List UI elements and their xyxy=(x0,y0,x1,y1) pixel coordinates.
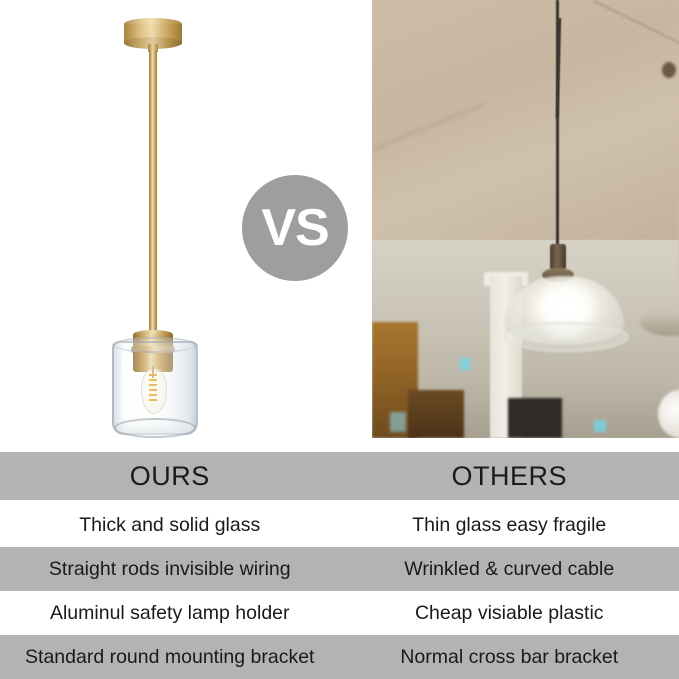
glass-shade-bottom-rim xyxy=(114,418,196,438)
cell-ours-2: Straight rods invisible wiring xyxy=(0,558,340,581)
vs-badge: VS xyxy=(242,175,348,281)
cell-others-3: Cheap visiable plastic xyxy=(340,602,679,625)
table-row: Thick and solid glass Thin glass easy fr… xyxy=(0,503,679,547)
dome-shade-rim xyxy=(503,322,629,352)
cell-others-2: Wrinkled & curved cable xyxy=(340,558,679,581)
table-row: Aluminul safety lamp holder Cheap visiab… xyxy=(0,591,679,635)
table-row: Standard round mounting bracket Normal c… xyxy=(0,635,679,679)
glass-highlight xyxy=(122,352,128,420)
table-header-row: OURS OTHERS xyxy=(0,452,679,500)
others-product-image xyxy=(372,0,679,438)
room-ceiling xyxy=(372,0,679,252)
straight-rod xyxy=(149,50,157,335)
bulb-filament xyxy=(149,374,157,404)
cell-ours-4: Standard round mounting bracket xyxy=(0,646,340,669)
header-cell-others: OTHERS xyxy=(340,461,679,492)
cell-others-1: Thin glass easy fragile xyxy=(340,514,679,537)
vs-badge-label: VS xyxy=(261,202,328,254)
cable-knob xyxy=(662,62,676,78)
cell-others-4: Normal cross bar bracket xyxy=(340,646,679,669)
header-cell-ours: OURS xyxy=(0,461,340,492)
dark-panel xyxy=(508,398,562,438)
blue-reflection-3 xyxy=(390,412,406,432)
blue-reflection-2 xyxy=(594,420,606,432)
table-row: Straight rods invisible wiring Wrinkled … xyxy=(0,547,679,591)
wooden-cabinet-lower xyxy=(408,390,464,438)
comparison-infographic: VS xyxy=(0,0,679,679)
blue-reflection-1 xyxy=(460,358,470,370)
cell-ours-1: Thick and solid glass xyxy=(0,514,340,537)
hero-image-section: VS xyxy=(0,0,679,448)
comparison-table: OURS OTHERS Thick and solid glass Thin g… xyxy=(0,452,679,679)
plastic-socket xyxy=(550,244,566,270)
cell-ours-3: Aluminul safety lamp holder xyxy=(0,602,340,625)
